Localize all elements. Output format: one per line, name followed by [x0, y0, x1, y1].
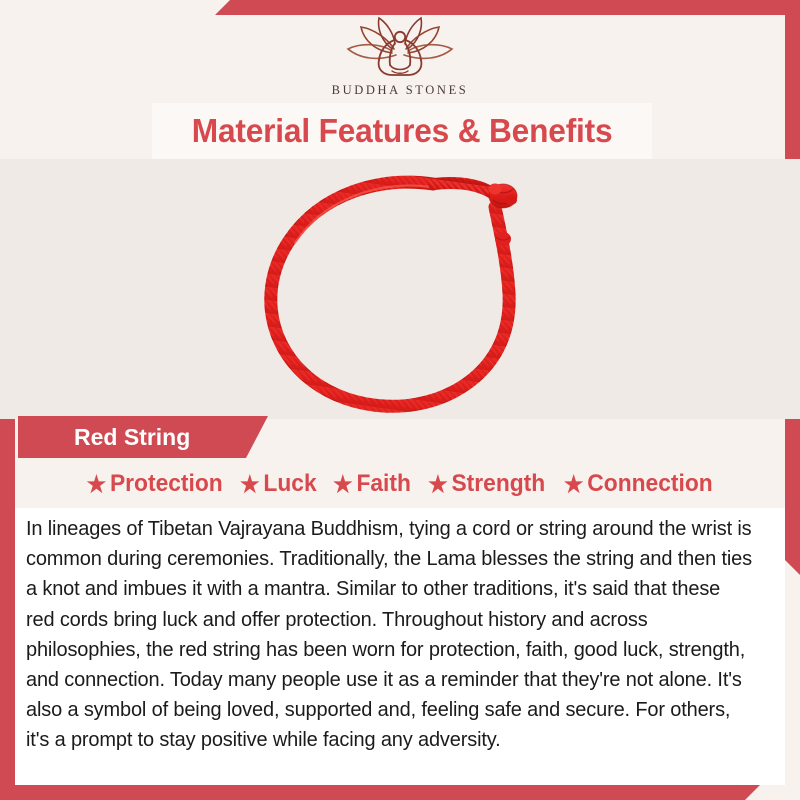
hero-image-area — [0, 159, 800, 419]
feature-label: Luck — [264, 470, 317, 498]
star-icon: ★ — [240, 473, 260, 496]
feature-label: Strength — [451, 470, 545, 498]
feature-label: Faith — [356, 470, 410, 498]
description-panel: In lineages of Tibetan Vajrayana Buddhis… — [15, 508, 785, 785]
brand-header: BUDDHA STONES — [0, 0, 800, 105]
brand-name: BUDDHA STONES — [332, 83, 469, 98]
feature-item-connection: ★ Connection — [564, 470, 713, 498]
infographic-card: BUDDHA STONES Material Features & Benefi… — [0, 0, 800, 800]
feature-label: Connection — [588, 470, 713, 498]
page-title-band: Material Features & Benefits — [152, 103, 652, 159]
feature-item-strength: ★ Strength — [428, 470, 545, 498]
feature-label: Protection — [110, 470, 223, 498]
lotus-meditation-logo-icon — [334, 15, 466, 81]
page-title: Material Features & Benefits — [192, 112, 613, 150]
star-icon: ★ — [87, 473, 107, 496]
section-ribbon: Red String — [18, 416, 268, 458]
feature-list: ★ Protection ★ Luck ★ Faith ★ Strength ★… — [0, 464, 800, 504]
brand-logo: BUDDHA STONES — [332, 7, 469, 98]
star-icon: ★ — [428, 473, 448, 496]
section-ribbon-label: Red String — [74, 424, 190, 451]
description-paragraph: In lineages of Tibetan Vajrayana Buddhis… — [26, 514, 752, 756]
frame-band-bottom — [0, 785, 760, 800]
red-string-bracelet-icon — [255, 167, 565, 422]
star-icon: ★ — [333, 473, 353, 496]
feature-item-protection: ★ Protection — [87, 470, 223, 498]
feature-item-faith: ★ Faith — [333, 470, 411, 498]
feature-item-luck: ★ Luck — [240, 470, 317, 498]
star-icon: ★ — [564, 473, 584, 496]
